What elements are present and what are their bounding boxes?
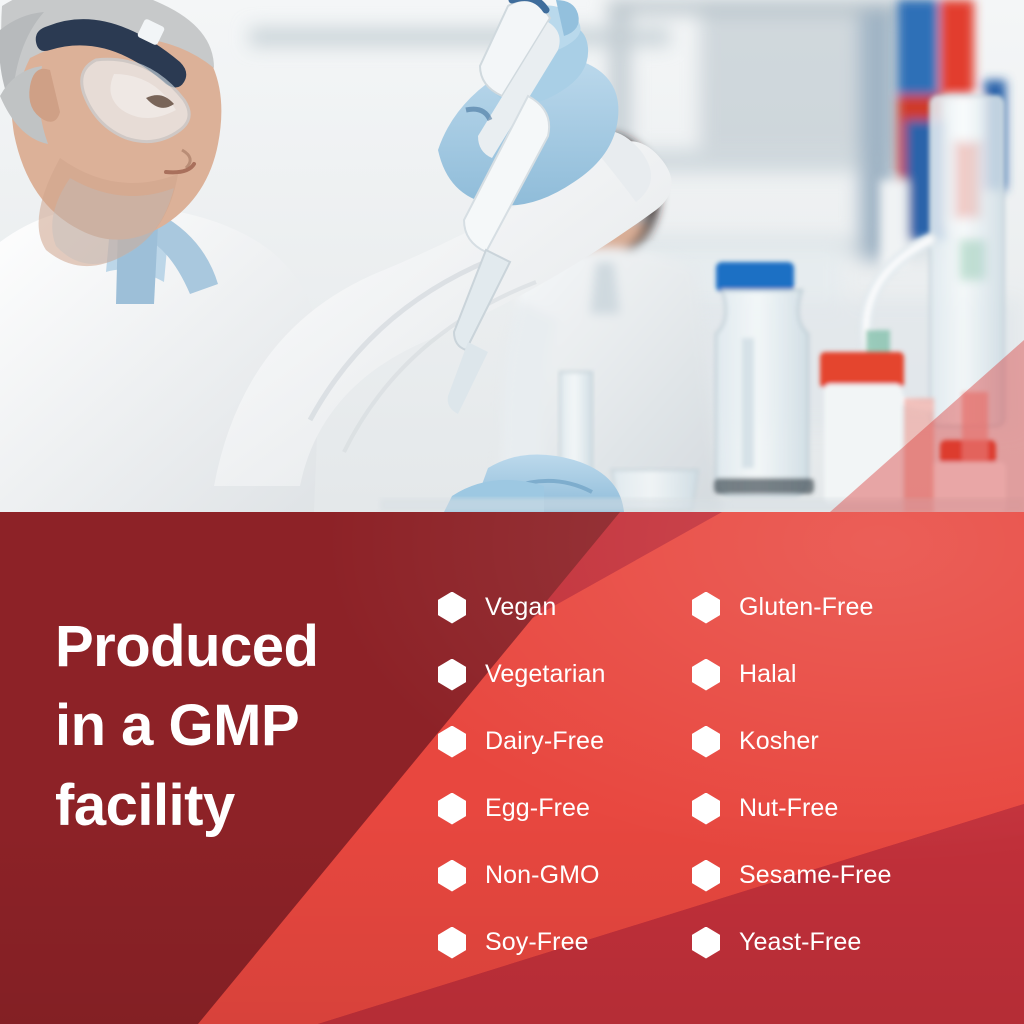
- hexagon-icon: [438, 726, 466, 758]
- list-item: Dairy-Free: [438, 708, 606, 775]
- certification-label: Halal: [739, 660, 796, 689]
- hexagon-icon: [438, 793, 466, 825]
- list-item: Halal: [692, 641, 892, 708]
- laboratory-photo: [0, 0, 1024, 512]
- hexagon-icon: [438, 927, 466, 959]
- certification-label: Yeast-Free: [739, 928, 861, 957]
- laboratory-photo-illustration: [0, 0, 1024, 512]
- certification-label: Dairy-Free: [485, 727, 604, 756]
- certification-label: Vegan: [485, 593, 556, 622]
- certification-column-2: Gluten-Free Halal Kosher Nut-Free Sesame…: [692, 574, 892, 976]
- certifications-banner: Produced in a GMP facility Vegan Vegetar…: [0, 512, 1024, 1024]
- certification-label: Soy-Free: [485, 928, 589, 957]
- banner-headline: Produced in a GMP facility: [55, 607, 435, 845]
- hexagon-icon: [692, 592, 720, 624]
- certification-label: Egg-Free: [485, 794, 590, 823]
- lab-bottle: [714, 262, 814, 496]
- list-item: Sesame-Free: [692, 842, 892, 909]
- hexagon-icon: [692, 726, 720, 758]
- list-item: Nut-Free: [692, 775, 892, 842]
- hexagon-icon: [692, 860, 720, 892]
- certification-label: Gluten-Free: [739, 593, 874, 622]
- list-item: Kosher: [692, 708, 892, 775]
- certification-label: Kosher: [739, 727, 819, 756]
- certification-label: Vegetarian: [485, 660, 606, 689]
- certification-column-1: Vegan Vegetarian Dairy-Free Egg-Free Non…: [438, 574, 606, 976]
- hexagon-icon: [438, 860, 466, 892]
- certification-label: Non-GMO: [485, 861, 600, 890]
- certification-label: Sesame-Free: [739, 861, 892, 890]
- certification-label: Nut-Free: [739, 794, 838, 823]
- list-item: Egg-Free: [438, 775, 606, 842]
- hexagon-icon: [438, 659, 466, 691]
- hexagon-icon: [692, 927, 720, 959]
- promo-graphic: Produced in a GMP facility Vegan Vegetar…: [0, 0, 1024, 1024]
- list-item: Soy-Free: [438, 909, 606, 976]
- hexagon-icon: [692, 793, 720, 825]
- list-item: Non-GMO: [438, 842, 606, 909]
- list-item: Vegan: [438, 574, 606, 641]
- hexagon-icon: [692, 659, 720, 691]
- list-item: Gluten-Free: [692, 574, 892, 641]
- hexagon-icon: [438, 592, 466, 624]
- list-item: Yeast-Free: [692, 909, 892, 976]
- list-item: Vegetarian: [438, 641, 606, 708]
